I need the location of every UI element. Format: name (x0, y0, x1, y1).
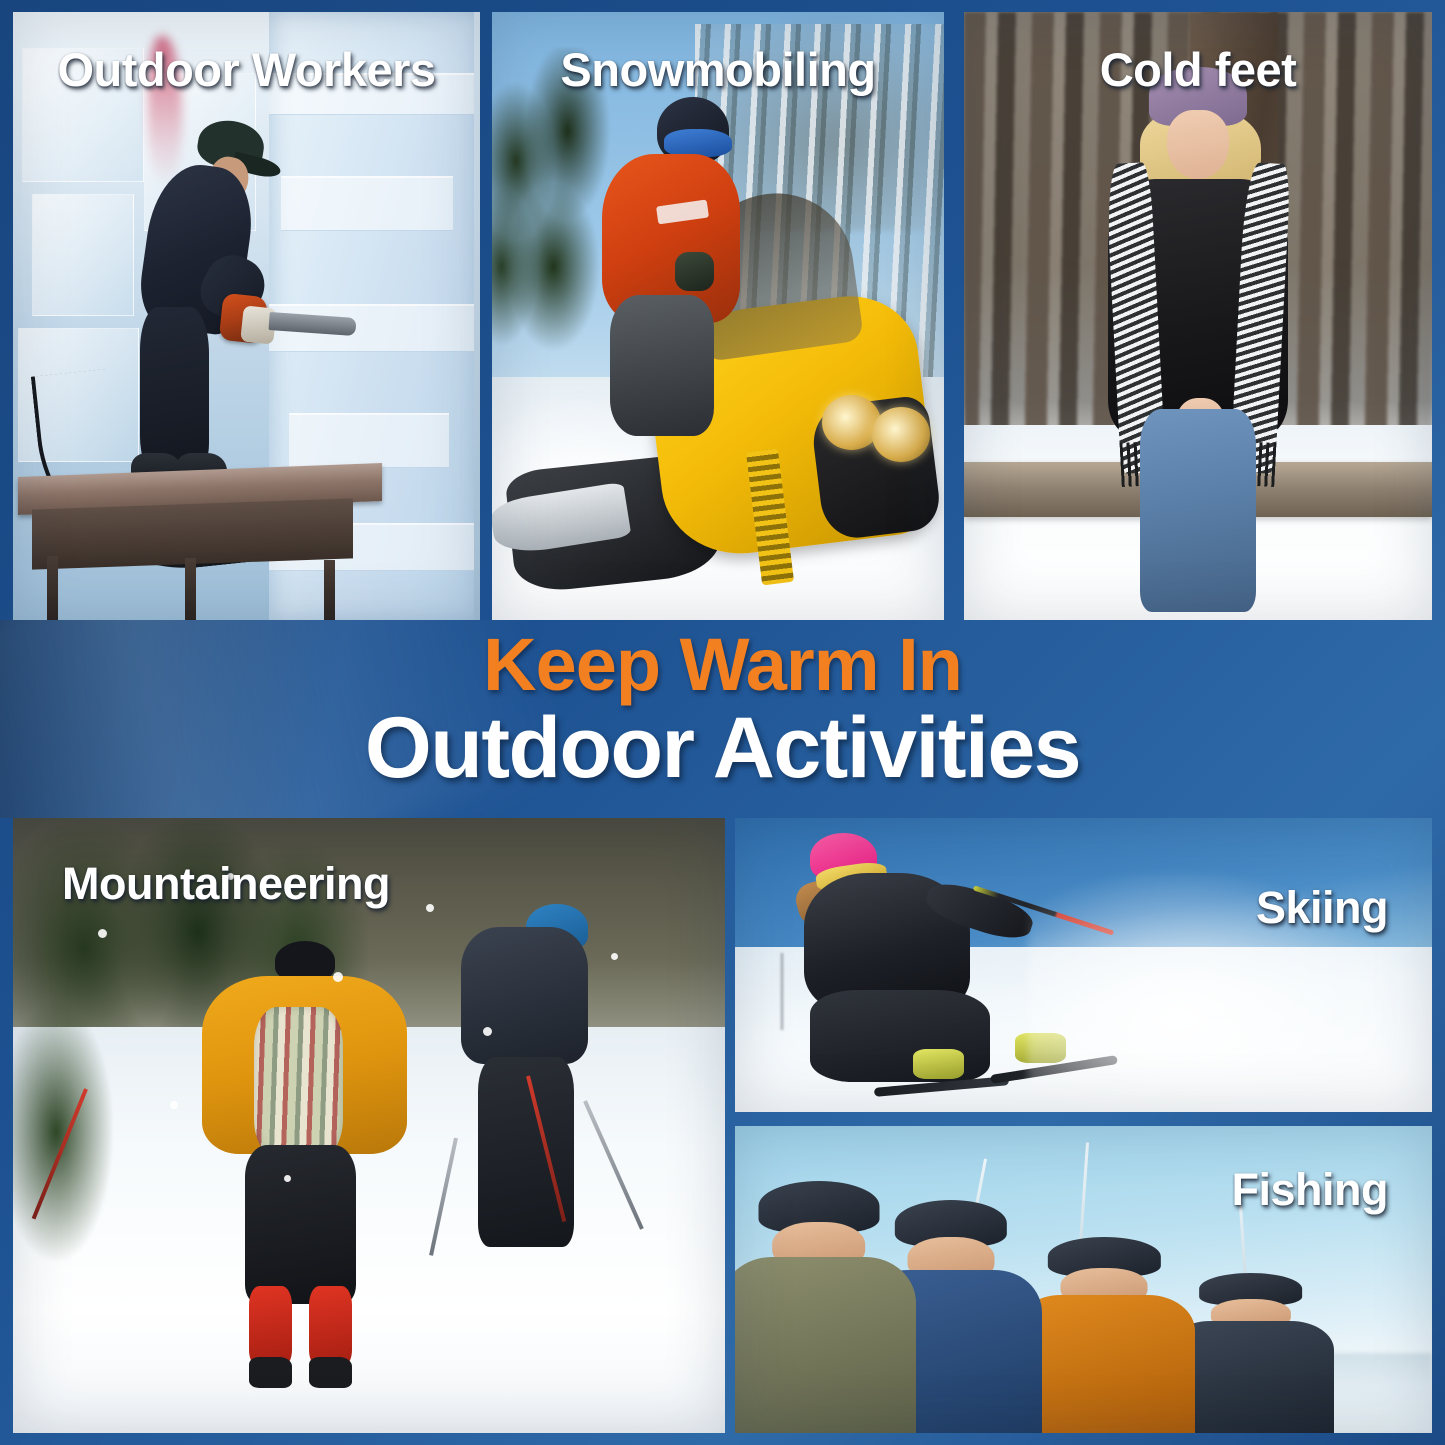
scene-skier-carving (735, 818, 1432, 1112)
caption-mountaineering: Mountaineering (62, 858, 390, 910)
scene-woman-on-bench (964, 12, 1432, 620)
figure-hiker-blue (454, 904, 625, 1285)
photo-tile-outdoor-workers[interactable]: Outdoor Workers (13, 12, 480, 620)
figure-seated-woman (1086, 67, 1311, 602)
photo-tile-fishing[interactable]: Fishing (735, 1126, 1432, 1433)
caption-snowmobiling: Snowmobiling (492, 42, 944, 97)
photo-tile-snowmobiling[interactable]: Snowmobiling (492, 12, 944, 620)
scene-ice-sculptor (13, 12, 480, 620)
photo-tile-cold-feet[interactable]: Cold feet (964, 12, 1432, 620)
scene-snow-hikers (13, 818, 725, 1433)
scene-snowmobile (492, 12, 944, 620)
headline-banner: Keep Warm In Outdoor Activities (0, 620, 1445, 818)
figure-fisher-olive (735, 1181, 916, 1433)
caption-outdoor-workers: Outdoor Workers (13, 42, 480, 97)
headline-line-2: Outdoor Activities (0, 705, 1445, 791)
figure-hiker-yellow (198, 941, 412, 1384)
photo-tile-mountaineering[interactable]: Mountaineering (13, 818, 725, 1433)
headline-line-1: Keep Warm In (0, 628, 1445, 702)
caption-cold-feet: Cold feet (964, 42, 1432, 97)
photo-tile-skiing[interactable]: Skiing (735, 818, 1432, 1112)
figure-snowmobile-rider (591, 97, 772, 450)
caption-skiing: Skiing (1256, 882, 1388, 934)
caption-fishing: Fishing (1232, 1164, 1388, 1216)
poster-root: Outdoor Workers (0, 0, 1445, 1445)
